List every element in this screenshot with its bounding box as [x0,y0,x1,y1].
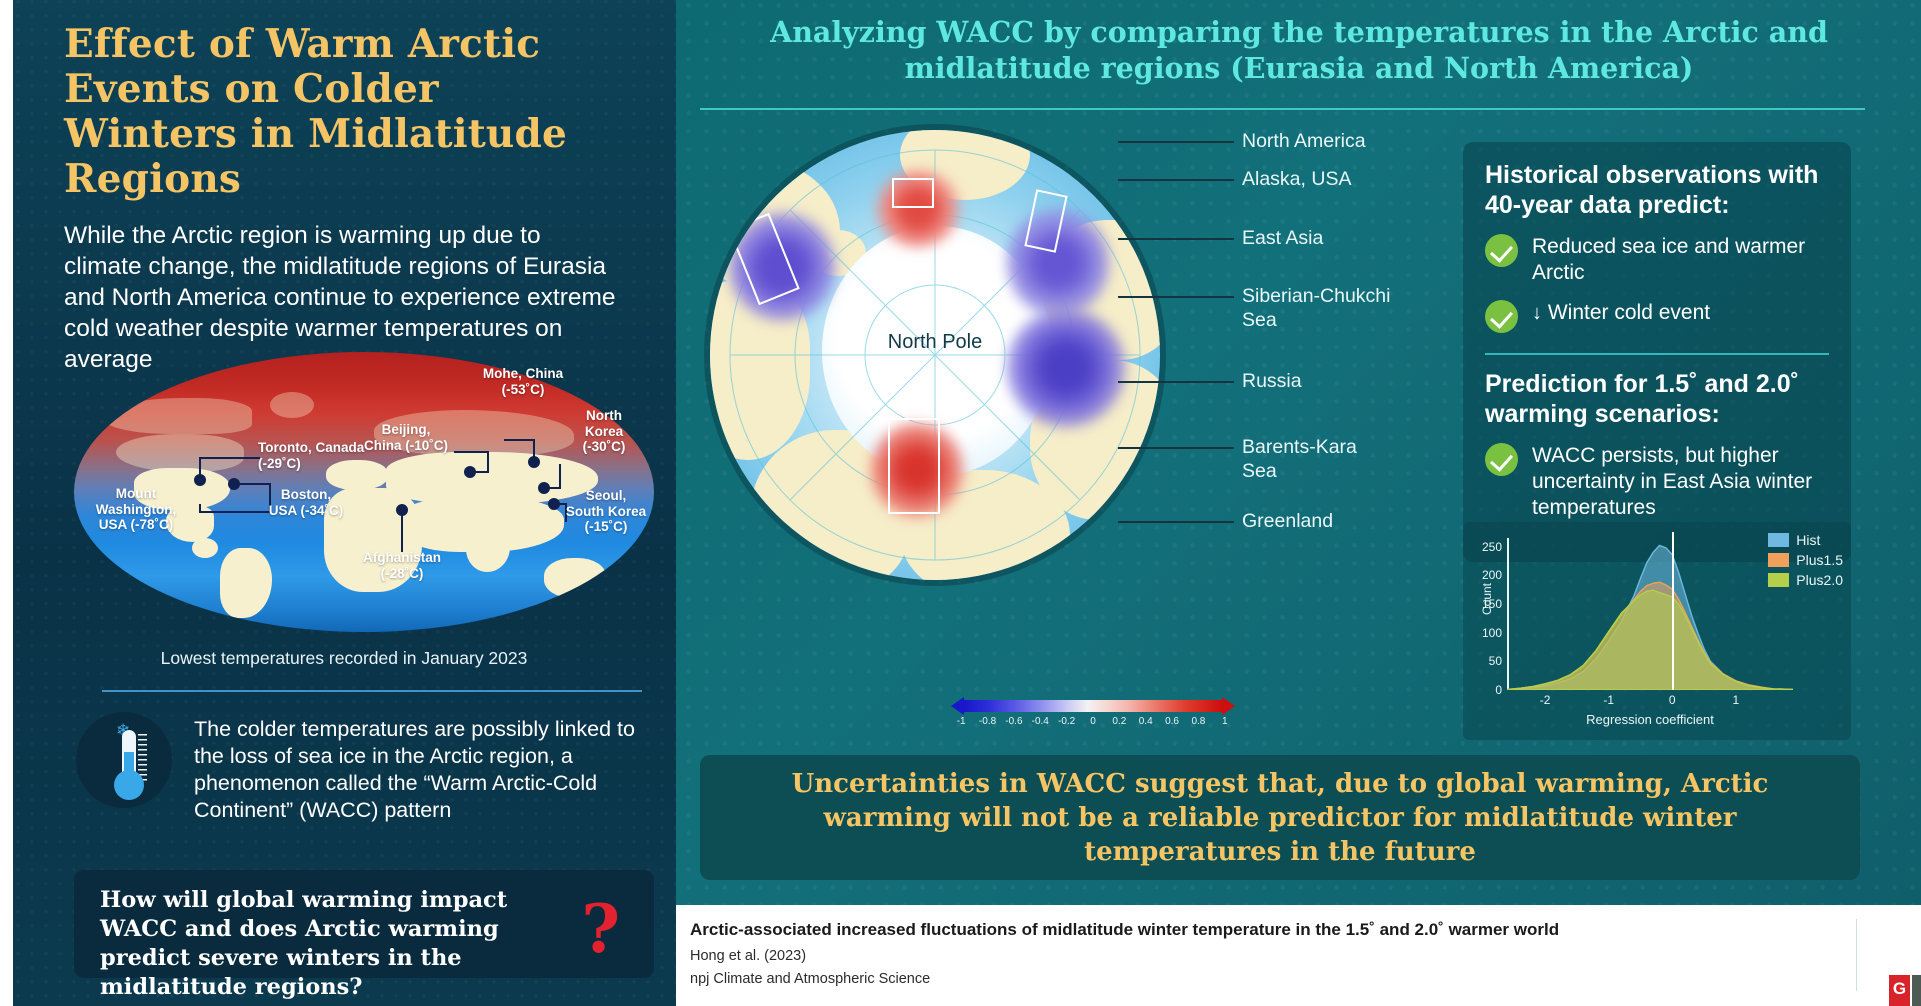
study-box-2 [892,178,934,208]
colorbar-tick: -0.2 [1053,716,1079,727]
paper-title: Arctic-associated increased fluctuations… [690,919,1559,941]
findings-divider [1485,353,1829,355]
chart-y-tick: 250 [1482,540,1502,554]
infographic-page: Effect of Warm Arctic Events on Colder W… [0,0,1921,1006]
colorbar-tick: 0 [1080,716,1106,727]
leader-north-america [1118,141,1234,143]
colorbar-gradient [964,700,1222,712]
right-panel-title: Analyzing WACC by comparing the temperat… [704,14,1894,86]
down-arrow-icon: ↓ [1532,302,1542,324]
map-label-mount-washington: Mount Washington, USA (-78˚C) [74,486,198,533]
leader-alaska [1118,179,1234,181]
legend-label: Hist [1796,532,1820,548]
paper-journal: npj Climate and Atmospheric Science [690,969,1559,989]
chart-y-tick: 150 [1482,597,1502,611]
check-icon [1485,234,1518,267]
map-caption: Lowest temperatures recorded in January … [6,648,682,669]
left-white-accent-bar [6,0,13,1006]
logo-letter-text: G [1889,979,1910,999]
thermometer-text: The colder temperatures are possibly lin… [194,712,646,824]
finding-item: WACC persists, but higher uncertainty in… [1485,443,1829,521]
finding-item: Reduced sea ice and warmer Arctic [1485,234,1829,286]
study-box-4 [888,418,940,514]
footer-divider [1856,919,1857,991]
chart-y-tick: 100 [1482,626,1502,640]
map-label-seoul: Seoul, South Korea (-15˚C) [560,488,652,535]
world-temperature-map: Toronto, Canada (-29˚C) Mohe, China (-53… [74,352,654,632]
colorbar: -1 -0.8 -0.6 -0.4 -0.2 0 0.2 0.4 0.6 0.8… [948,700,1238,727]
leader-barents-kara [1118,447,1234,449]
right-panel-divider [700,108,1865,110]
findings-card: Historical observations with 40-year dat… [1463,142,1851,562]
colorbar-tick: -1 [948,716,974,727]
colorbar-tick: 0.6 [1159,716,1185,727]
chart-x-axis-label: Regression coefficient [1507,712,1793,727]
thermometer-icon: ❄ [76,712,172,808]
legend-swatch [1768,533,1789,547]
leader-russia [1118,381,1234,383]
leader-east-asia [1118,238,1234,240]
arctic-map: North Pole [700,120,1170,580]
legend-swatch [1768,573,1789,587]
colorbar-ticks: -1 -0.8 -0.6 -0.4 -0.2 0 0.2 0.4 0.6 0.8… [948,716,1238,727]
finding-text-label: Winter cold event [1548,301,1710,324]
arctic-label-siberian-chukchi: Siberian-Chukchi Sea [1242,284,1391,332]
findings-heading-prediction: Prediction for 1.5˚ and 2.0˚ warming sce… [1485,369,1829,429]
check-icon [1485,443,1518,476]
question-text: How will global warming impact WACC and … [100,886,568,1002]
thermometer-note: ❄ The colder temperatures are possibly l… [76,712,654,824]
legend-item: Plus1.5 [1768,552,1843,568]
question-mark-icon: ? [581,896,620,962]
logo-letter-text: I [1912,995,1921,1006]
check-icon [1485,300,1518,333]
finding-text: Reduced sea ice and warmer Arctic [1532,234,1829,286]
colorbar-tick: 0.2 [1106,716,1132,727]
gist-logo-mark: G I S T [1889,975,1921,1006]
colorbar-tick: 0.4 [1133,716,1159,727]
arctic-label-greenland: Greenland [1242,509,1333,533]
legend-item: Plus2.0 [1768,572,1843,588]
chart-y-tick: 200 [1482,568,1502,582]
paper-authors: Hong et al. (2023) [690,946,1559,966]
chart-y-tick: 0 [1495,683,1502,697]
leader-siberian-chukchi [1118,296,1234,298]
legend-swatch [1768,553,1789,567]
chart-x-tick: 0 [1669,693,1676,707]
legend-label: Plus2.0 [1796,572,1843,588]
arctic-map-disc: North Pole [710,130,1160,580]
chart-zero-line [1672,532,1674,690]
colorbar-tick: -0.4 [1027,716,1053,727]
logo-letter-i: I [1912,975,1921,1006]
map-label-afghanistan: Afghanistan (-28˚C) [346,550,458,581]
map-label-beijing: Beijing, China (-10˚C) [350,422,462,453]
paper-reference: Arctic-associated increased fluctuations… [690,919,1559,989]
arctic-label-barents-kara: Barents-Kara Sea [1242,435,1357,483]
page-title: Effect of Warm Arctic Events on Colder W… [64,22,604,202]
left-panel: Effect of Warm Arctic Events on Colder W… [0,0,676,1006]
chart-x-tick: 1 [1732,693,1739,707]
colorbar-tick: 0.8 [1185,716,1211,727]
map-label-north-korea: North Korea (-30˚C) [566,408,642,455]
regression-histogram-card: Count Regression coefficient 05010015020… [1463,522,1851,740]
footer: Arctic-associated increased fluctuations… [676,905,1921,1006]
arctic-label-alaska: Alaska, USA [1242,167,1351,191]
arctic-label-north-america: North America [1242,129,1366,153]
legend-label: Plus1.5 [1796,552,1843,568]
colorbar-tick: -0.8 [974,716,1000,727]
chart-y-tick: 50 [1489,654,1502,668]
arctic-label-russia: Russia [1242,369,1302,393]
left-divider [102,690,642,692]
map-label-mohe: Mohe, China (-53˚C) [464,366,582,397]
chart-series-svg [1507,538,1793,690]
gist-logo: G I S T Gwangju Institute of Science and… [1889,927,1921,1006]
conclusion-text: Uncertainties in WACC suggest that, due … [700,767,1860,869]
findings-heading-historical: Historical observations with 40-year dat… [1485,160,1829,220]
north-pole-label: North Pole [888,330,983,354]
arctic-label-east-asia: East Asia [1242,226,1323,250]
leader-greenland [1118,521,1234,523]
conclusion-banner: Uncertainties in WACC suggest that, due … [700,755,1860,880]
chart-legend: Hist Plus1.5 Plus2.0 [1768,532,1843,592]
map-label-boston: Boston, USA (-34˚C) [256,487,356,518]
chart-x-tick: -2 [1540,693,1551,707]
colorbar-tick: 1 [1212,716,1238,727]
finding-text: WACC persists, but higher uncertainty in… [1532,443,1829,521]
finding-text: ↓ Winter cold event [1532,300,1710,326]
legend-item: Hist [1768,532,1843,548]
anomaly-blob-blue-east [1006,308,1126,428]
chart-plot-area: Count Regression coefficient 05010015020… [1507,538,1793,690]
logo-letter-g: G [1889,975,1910,1006]
chart-x-tick: -1 [1603,693,1614,707]
question-box: How will global warming impact WACC and … [74,870,654,978]
colorbar-tick: -0.6 [1001,716,1027,727]
finding-item: ↓ Winter cold event [1485,300,1829,333]
